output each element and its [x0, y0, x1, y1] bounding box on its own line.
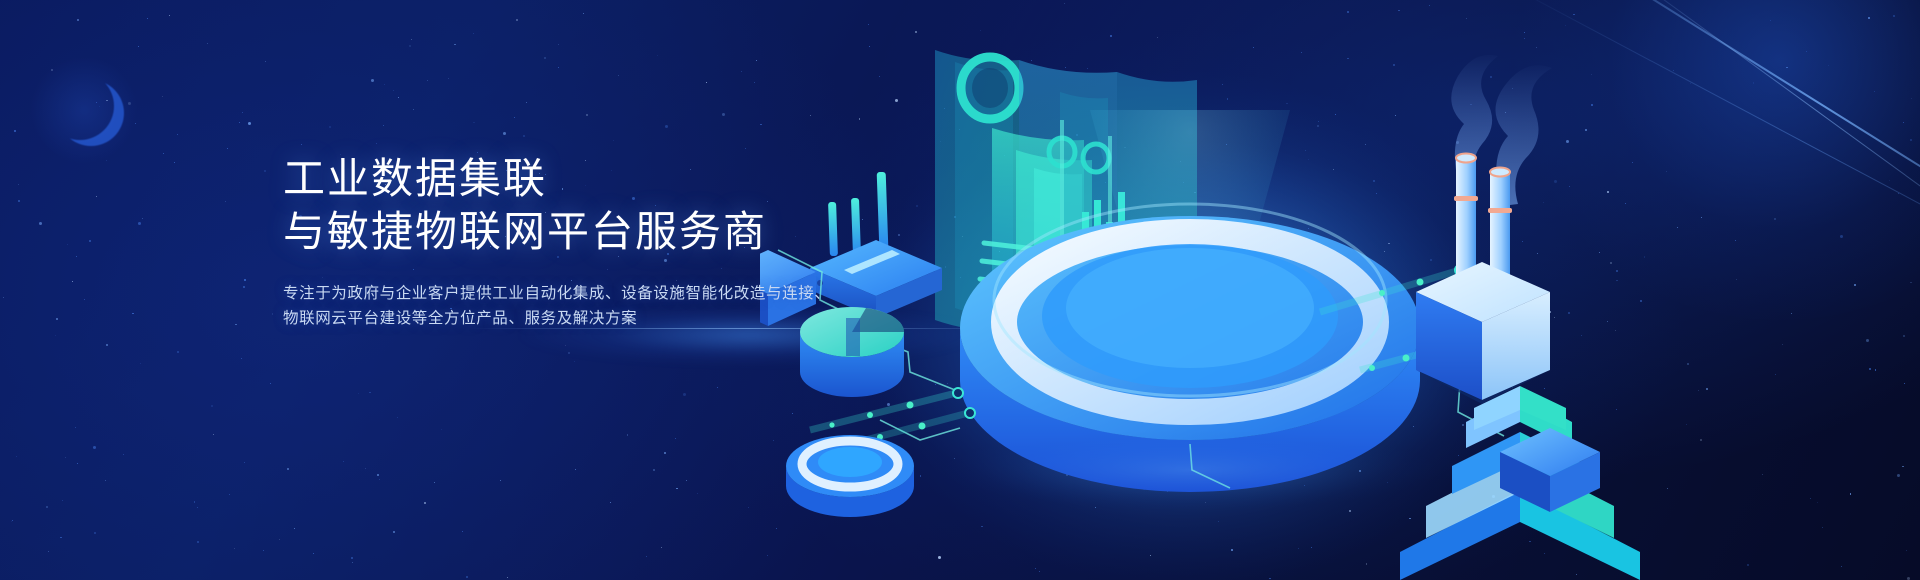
- star: [229, 494, 230, 495]
- star: [272, 313, 273, 314]
- star: [676, 488, 677, 489]
- star: [377, 474, 379, 476]
- star: [279, 539, 280, 540]
- star: [265, 61, 266, 62]
- star: [748, 507, 749, 508]
- star: [3, 297, 4, 298]
- star: [544, 57, 546, 59]
- star: [197, 507, 198, 508]
- star: [18, 184, 19, 185]
- star: [503, 132, 506, 135]
- star: [93, 446, 96, 449]
- star: [106, 160, 107, 161]
- stack-right-band: [1488, 208, 1512, 213]
- star: [270, 383, 271, 384]
- star: [741, 71, 742, 72]
- star: [558, 44, 559, 45]
- star: [369, 392, 370, 393]
- star: [11, 521, 12, 522]
- star: [558, 67, 559, 68]
- star: [661, 547, 662, 548]
- star: [393, 531, 395, 533]
- star: [301, 144, 302, 145]
- star: [106, 344, 108, 346]
- star: [294, 528, 295, 529]
- star: [413, 109, 414, 110]
- star: [675, 438, 676, 439]
- star: [384, 84, 385, 85]
- star: [507, 577, 508, 578]
- star: [365, 468, 366, 469]
- star: [500, 480, 501, 481]
- star: [397, 417, 398, 418]
- star: [264, 170, 266, 172]
- crescent-moon-icon: [46, 72, 114, 140]
- star: [147, 18, 148, 19]
- star: [686, 480, 687, 481]
- star: [313, 553, 314, 554]
- star: [243, 286, 245, 288]
- star: [610, 502, 611, 503]
- star: [583, 13, 584, 14]
- star: [227, 148, 228, 149]
- star: [132, 313, 133, 314]
- star: [62, 500, 63, 501]
- star: [177, 134, 178, 135]
- star: [56, 318, 58, 320]
- star: [263, 550, 264, 551]
- star: [473, 122, 474, 123]
- star: [55, 335, 56, 336]
- star: [138, 46, 139, 47]
- star: [473, 33, 474, 34]
- star: [94, 532, 96, 534]
- tower-dial-inner: [972, 68, 1008, 108]
- star: [60, 537, 61, 538]
- star: [722, 113, 725, 116]
- star: [329, 126, 331, 128]
- star: [586, 114, 588, 116]
- star: [194, 501, 195, 502]
- star: [89, 240, 91, 242]
- star: [84, 299, 85, 300]
- star: [244, 462, 245, 463]
- star: [76, 256, 77, 257]
- star: [448, 78, 449, 79]
- star: [627, 434, 628, 435]
- star: [646, 556, 647, 557]
- ring-disc-center: [818, 447, 882, 477]
- star: [424, 502, 426, 504]
- star: [241, 358, 242, 359]
- star: [523, 135, 524, 136]
- stack-left-band: [1454, 196, 1478, 201]
- star: [75, 427, 76, 428]
- star: [383, 125, 384, 126]
- star: [717, 387, 718, 388]
- star: [39, 222, 42, 225]
- star: [140, 363, 141, 364]
- star: [393, 90, 394, 91]
- star: [575, 469, 576, 470]
- star: [239, 122, 240, 123]
- star: [213, 434, 214, 435]
- star: [105, 480, 106, 481]
- hero-illustration: [760, 0, 1920, 580]
- star: [379, 479, 380, 480]
- star: [352, 562, 353, 563]
- headline-line-2: 与敏捷物联网平台服务商: [283, 205, 903, 258]
- star: [225, 201, 226, 202]
- hero-banner: 工业数据集联 与敏捷物联网平台服务商 专注于为政府与企业客户提供工业自动化集成、…: [0, 0, 1920, 580]
- star: [96, 196, 97, 197]
- star: [665, 125, 668, 128]
- star: [235, 324, 236, 325]
- star: [12, 520, 13, 521]
- star: [657, 55, 658, 56]
- star: [14, 130, 16, 132]
- star: [411, 39, 412, 40]
- hero-text-block: 工业数据集联 与敏捷物联网平台服务商 专注于为政府与企业客户提供工业自动化集成、…: [283, 152, 903, 331]
- star: [526, 102, 527, 103]
- star: [618, 75, 619, 76]
- star: [18, 200, 20, 202]
- star: [287, 468, 289, 470]
- star: [441, 429, 442, 430]
- star: [138, 222, 141, 225]
- star: [123, 454, 124, 455]
- star: [77, 19, 79, 21]
- star: [343, 461, 344, 462]
- subtitle-line-2: 物联网云平台建设等全方位产品、服务及解决方案: [283, 306, 903, 331]
- star: [142, 218, 143, 219]
- star: [398, 97, 399, 98]
- star: [683, 393, 686, 396]
- platform-ring-inner-2: [1066, 248, 1314, 368]
- star: [454, 44, 455, 45]
- star: [664, 452, 666, 454]
- star: [434, 482, 435, 483]
- star: [67, 244, 68, 245]
- star: [756, 60, 757, 61]
- star: [197, 541, 199, 543]
- star: [46, 506, 48, 508]
- star: [706, 82, 707, 83]
- subtitle-line-1: 专注于为政府与企业客户提供工业自动化集成、设备设施智能化改造与连接、: [283, 281, 903, 306]
- star: [242, 112, 243, 113]
- star: [72, 281, 73, 282]
- star: [653, 469, 655, 471]
- star: [376, 143, 377, 144]
- star: [745, 148, 746, 149]
- star: [207, 43, 208, 44]
- star: [244, 279, 245, 280]
- star: [177, 351, 179, 353]
- star: [163, 153, 164, 154]
- star: [169, 15, 170, 16]
- star: [754, 82, 755, 83]
- star: [462, 531, 463, 532]
- star: [174, 162, 175, 163]
- star: [351, 557, 353, 559]
- star: [48, 551, 49, 552]
- star: [65, 457, 66, 458]
- star: [162, 96, 163, 97]
- ground-reflections: [940, 430, 1440, 510]
- stack-right-rim: [1490, 168, 1510, 177]
- star: [697, 493, 698, 494]
- stack-left-rim: [1456, 154, 1476, 163]
- star: [248, 122, 251, 125]
- star: [358, 393, 359, 394]
- ring-disc: [786, 435, 914, 517]
- headline-line-1: 工业数据集联: [283, 152, 903, 205]
- star: [234, 548, 235, 549]
- star: [16, 456, 17, 457]
- star: [613, 140, 614, 141]
- star: [514, 117, 515, 118]
- star: [409, 45, 411, 47]
- star: [211, 405, 213, 407]
- star: [466, 576, 468, 578]
- star: [371, 79, 374, 82]
- star: [427, 80, 428, 81]
- star: [77, 463, 78, 464]
- star: [516, 19, 518, 21]
